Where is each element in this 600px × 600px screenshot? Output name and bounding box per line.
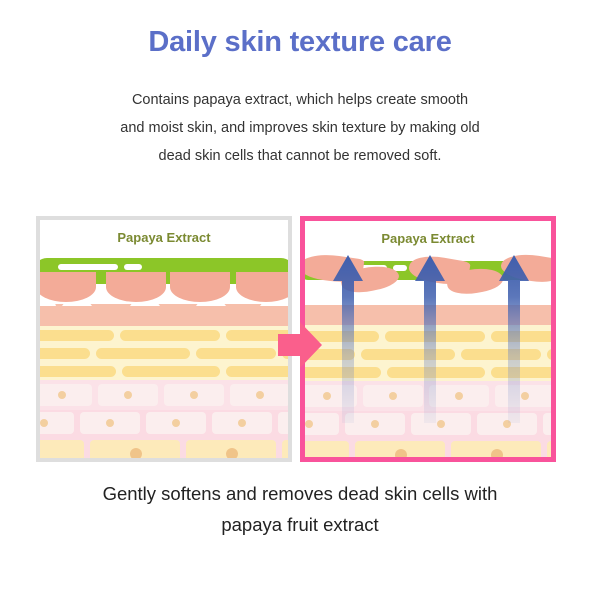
after-panel: Papaya Extract [300,216,556,462]
basal-nucleus [491,449,503,457]
basal-nucleus [395,449,407,457]
extract-highlight [124,264,142,270]
caption-block: Gently softens and removes dead skin cel… [0,478,600,540]
cell-nucleus [40,419,48,427]
skin-cell [543,413,551,435]
cell-nucleus [124,391,132,399]
caption-line-1: Gently softens and removes dead skin cel… [0,478,600,509]
arrow-right-icon [278,322,322,368]
cell-nucleus [371,420,379,428]
subtitle-line-3: dead skin cells that cannot be removed s… [0,142,600,170]
up-arrow-icon [499,255,529,423]
subtitle-line-1: Contains papaya extract, which helps cre… [0,86,600,114]
dead-skin-flake [170,272,230,302]
dead-skin-flake [236,272,288,302]
brick [120,330,220,341]
cell-nucleus [58,391,66,399]
up-arrow-icon [415,255,445,423]
cell-nucleus [238,419,246,427]
skin-cell [278,412,288,434]
caption-line-2: papaya fruit extract [0,509,600,540]
page-title: Daily skin texture care [0,26,600,59]
cell-nucleus [106,419,114,427]
brick [547,349,551,360]
cell-nucleus [305,420,313,428]
cell-nucleus [172,419,180,427]
basal-cell [282,440,288,458]
basal-cell [40,440,84,458]
up-arrow-icon [333,255,363,423]
skin-diagram: Papaya Extract [0,216,600,464]
cell-nucleus [323,392,331,400]
cell-nucleus [256,391,264,399]
extract-highlight [58,264,118,270]
cell-nucleus [455,392,463,400]
basal-nucleus [226,448,238,458]
after-extract-label: Papaya Extract [305,231,551,246]
before-panel: Papaya Extract [36,216,292,462]
brick [96,348,190,359]
brick [40,366,116,377]
skin-cell [40,384,92,406]
promo-graphic: Daily skin texture care Contains papaya … [0,0,600,600]
brick [122,366,220,377]
after-panel-inner: Papaya Extract [305,221,551,457]
dead-skin-flake [106,272,166,302]
brick [196,348,276,359]
basal-nucleus [130,448,142,458]
epidermis-layer [40,304,288,326]
basal-cell [305,441,349,457]
subtitle-line-2: and moist skin, and improves skin textur… [0,114,600,142]
before-extract-label: Papaya Extract [40,230,288,245]
subtitle-block: Contains papaya extract, which helps cre… [0,86,600,170]
cell-nucleus [190,391,198,399]
brick [40,348,90,359]
cell-nucleus [389,392,397,400]
dead-skin-flake [40,272,96,302]
basal-cell [547,441,551,457]
before-panel-inner: Papaya Extract [40,220,288,458]
brick [40,330,114,341]
